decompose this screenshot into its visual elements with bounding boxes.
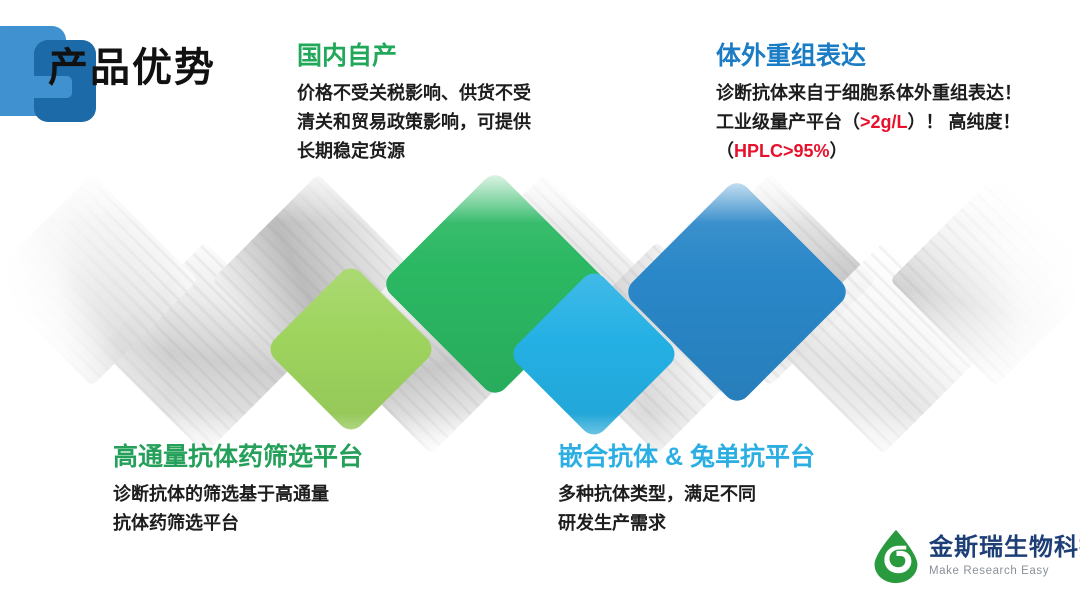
body-line: 工业级量产平台（>2g/L）！ 高纯度！	[716, 108, 1076, 137]
diamond-collage	[0, 163, 1080, 483]
body-line: 抗体药筛选平台	[113, 509, 513, 538]
text-block-bottom-right: 嵌合抗体 & 兔单抗平台 多种抗体类型，满足不同 研发生产需求	[558, 443, 958, 538]
genscript-droplet-icon	[872, 529, 920, 584]
body-line: 诊断抗体的筛选基于高通量	[113, 480, 513, 509]
brand-logo: 金斯瑞生物科技 Make Research Easy	[872, 529, 1080, 584]
body-line: 多种抗体类型，满足不同	[558, 480, 958, 509]
body-line: 诊断抗体来自于细胞系体外重组表达！	[716, 79, 1076, 108]
heading-chimeric-rabbit-platform: 嵌合抗体 & 兔单抗平台	[558, 443, 958, 472]
brand-text: 金斯瑞生物科技 Make Research Easy	[929, 536, 1080, 578]
body-line: 长期稳定货源	[297, 137, 627, 166]
heading-domestic-production: 国内自产	[297, 42, 627, 71]
body-domestic-production: 价格不受关税影响、供货不受 清关和贸易政策影响，可提供 长期稳定货源	[297, 79, 627, 166]
text-block-top-right: 体外重组表达 诊断抗体来自于细胞系体外重组表达！ 工业级量产平台（>2g/L）！…	[716, 42, 1076, 166]
heading-invitro-expression: 体外重组表达	[716, 42, 1076, 71]
highlight-yield: >2g/L	[860, 112, 908, 132]
body-line: （HPLC>95%）	[716, 137, 1076, 166]
text-block-bottom-left: 高通量抗体药筛选平台 诊断抗体的筛选基于高通量 抗体药筛选平台	[113, 443, 513, 538]
slide-canvas: 产品优势 国内自产 价格不受关税影响、供货不受 清关和贸易政策影响，可提供 长期…	[0, 0, 1080, 605]
body-invitro-expression: 诊断抗体来自于细胞系体外重组表达！ 工业级量产平台（>2g/L）！ 高纯度！ （…	[716, 79, 1076, 166]
heading-hts-platform: 高通量抗体药筛选平台	[113, 443, 513, 472]
page-title: 产品优势	[48, 48, 216, 88]
body-hts-platform: 诊断抗体的筛选基于高通量 抗体药筛选平台	[113, 480, 513, 538]
brand-name-cn: 金斯瑞生物科技	[929, 536, 1080, 560]
body-line: 清关和贸易政策影响，可提供	[297, 108, 627, 137]
highlight-purity: HPLC>95%	[734, 141, 830, 161]
text-block-top-left: 国内自产 价格不受关税影响、供货不受 清关和贸易政策影响，可提供 长期稳定货源	[297, 42, 627, 166]
body-line: 价格不受关税影响、供货不受	[297, 79, 627, 108]
brand-tagline: Make Research Easy	[929, 566, 1080, 578]
